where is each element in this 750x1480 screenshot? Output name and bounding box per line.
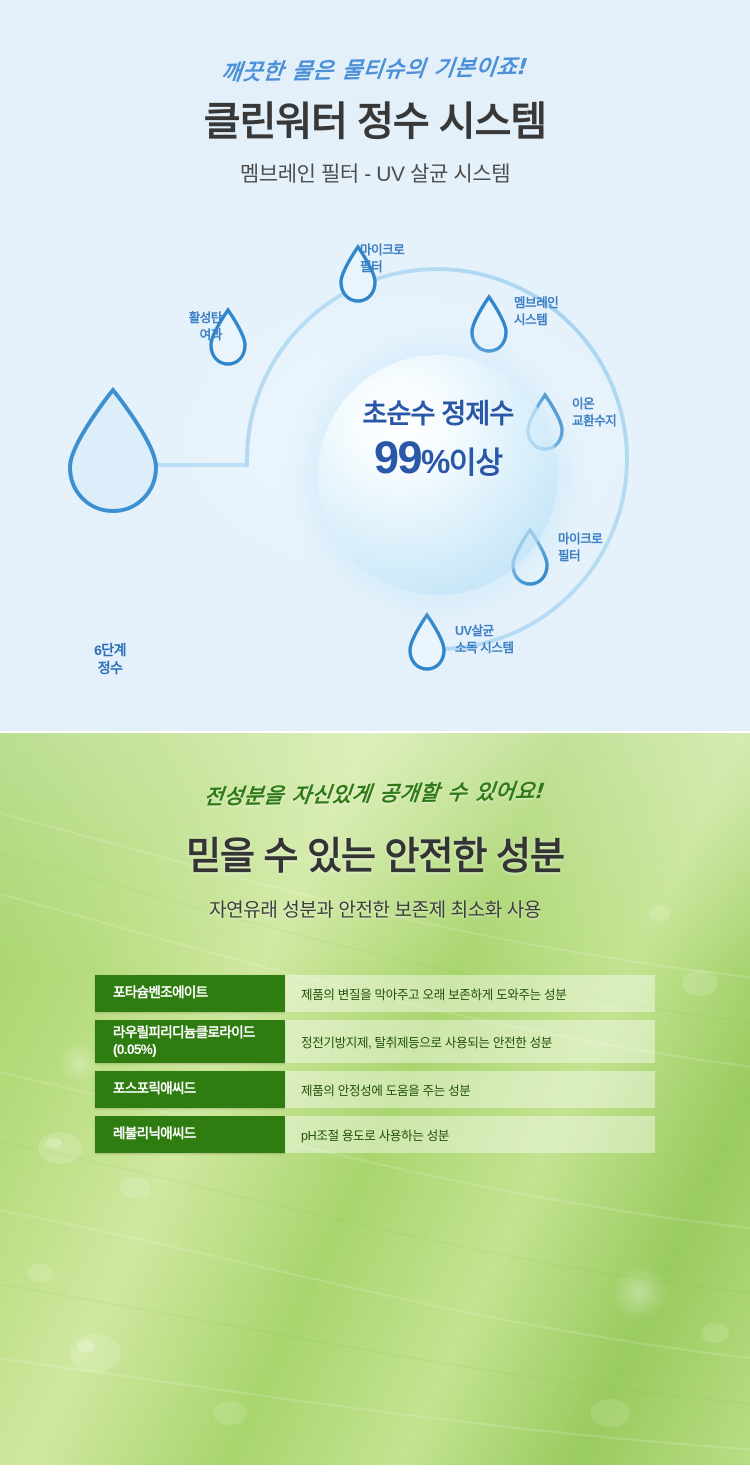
stage-label-line1: UV살균 [455, 623, 514, 640]
purity-suffix: 이상 [449, 447, 502, 480]
stage-label-line2: 시스템 [514, 312, 558, 329]
ingredient-script-line: 전성분을 자신있게 공개할 수 있어요! [0, 771, 750, 814]
stage-label-line2: 필터 [558, 548, 602, 565]
ingredient-desc-cell: 정전기방지제, 탈취제등으로 사용되는 안전한 성분 [285, 1020, 655, 1063]
ingredient-name: 포타슘벤조에이트 [113, 985, 285, 1001]
ingredient-desc-cell: pH조절 용도로 사용하는 성분 [285, 1116, 655, 1153]
purity-value: 99 [374, 432, 421, 483]
table-row: 레불리닉애씨드 pH조절 용도로 사용하는 성분 [95, 1116, 655, 1153]
table-row: 라우릴피리디늄클로라이드 (0.05%) 정전기방지제, 탈취제등으로 사용되는… [95, 1020, 655, 1063]
ingredient-table: 포타슘벤조에이트 제품의 변질을 막아주고 오래 보존하게 도와주는 성분 라우… [95, 975, 655, 1161]
ingredient-name: 포스포릭애씨드 [113, 1081, 285, 1097]
ingredient-name-cell: 라우릴피리디늄클로라이드 (0.05%) [95, 1020, 285, 1063]
stage-label-line1: 멤브레인 [514, 295, 558, 312]
stage-droplet-membrane [472, 297, 506, 351]
stage-label-line2: 소독 시스템 [455, 640, 514, 657]
ingredient-name: 레불리닉애씨드 [113, 1126, 285, 1142]
purity-label: 초순수 정제수 [318, 401, 558, 428]
ingredient-name: 라우릴피리디늄클로라이드 [113, 1025, 285, 1041]
stage-label-ion-exchange-resin: 이온 교환수지 [572, 396, 616, 430]
safe-ingredient-section: 전성분을 자신있게 공개할 수 있어요! 믿을 수 있는 안전한 성분 자연유래… [0, 733, 750, 1465]
ingredient-desc-cell: 제품의 변질을 막아주고 오래 보존하게 도와주는 성분 [285, 975, 655, 1012]
stage-label-line2: 필터 [360, 259, 404, 276]
table-row: 포스포릭애씨드 제품의 안정성에 도움을 주는 성분 [95, 1071, 655, 1108]
stage-label-activated-carbon: 활성탄 여과 [168, 310, 222, 344]
inlet-label-line2: 정수 [73, 660, 147, 678]
ingredient-section-header: 전성분을 자신있게 공개할 수 있어요! 믿을 수 있는 안전한 성분 자연유래… [0, 778, 750, 922]
ingredient-name-cell: 포타슘벤조에이트 [95, 975, 285, 1012]
infographic-page: 깨끗한 물은 물티슈의 기본이죠! 클린워터 정수 시스템 멤브레인 필터 - … [0, 0, 750, 1480]
stage-label-line2: 여과 [168, 327, 222, 344]
purity-bubble-text: 초순수 정제수 99%이상 [318, 401, 558, 480]
stage-label-line1: 이온 [572, 396, 616, 413]
percent-symbol: % [421, 443, 449, 480]
inlet-droplet [70, 390, 156, 511]
stage-label-micro-filter-top: 마이크로 필터 [360, 242, 404, 276]
inlet-label-line1: 6단계 [73, 642, 147, 660]
stage-label-line2: 교환수지 [572, 413, 616, 430]
stage-label-micro-filter-bottom: 마이크로 필터 [558, 531, 602, 565]
bottom-white-strip [0, 1465, 750, 1480]
purity-value-row: 99%이상 [318, 435, 558, 480]
ingredient-desc-cell: 제품의 안정성에 도움을 주는 성분 [285, 1071, 655, 1108]
stage-label-line1: 활성탄 [168, 310, 222, 327]
table-row: 포타슘벤조에이트 제품의 변질을 막아주고 오래 보존하게 도와주는 성분 [95, 975, 655, 1012]
ingredient-name-cell: 포스포릭애씨드 [95, 1071, 285, 1108]
water-purification-section: 깨끗한 물은 물티슈의 기본이죠! 클린워터 정수 시스템 멤브레인 필터 - … [0, 0, 750, 731]
water-section-title: 클린워터 정수 시스템 [0, 100, 750, 144]
stage-label-membrane-system: 멤브레인 시스템 [514, 295, 558, 329]
ingredient-section-title: 믿을 수 있는 안전한 성분 [0, 825, 750, 880]
stage-label-line1: 마이크로 [360, 242, 404, 259]
stage-label-line1: 마이크로 [558, 531, 602, 548]
ingredient-section-subtitle: 자연유래 성분과 안전한 보존제 최소화 사용 [0, 895, 750, 922]
water-section-subtitle: 멤브레인 필터 - UV 살균 시스템 [0, 158, 750, 188]
stage-droplet-uv-sterilizer [410, 615, 444, 669]
inlet-droplet-label: 6단계 정수 [73, 642, 147, 677]
ingredient-name-sub: (0.05%) [113, 1042, 285, 1058]
purification-flow-diagram: 초순수 정제수 99%이상 6단계 정수 활성탄 여과 마이크로 필터 멤브레인… [0, 215, 750, 715]
water-section-header: 깨끗한 물은 물티슈의 기본이죠! 클린워터 정수 시스템 멤브레인 필터 - … [0, 0, 750, 188]
stage-label-uv-sterilizer: UV살균 소독 시스템 [455, 623, 514, 657]
water-script-line: 깨끗한 물은 물티슈의 기본이죠! [0, 45, 750, 91]
ingredient-name-cell: 레불리닉애씨드 [95, 1116, 285, 1153]
